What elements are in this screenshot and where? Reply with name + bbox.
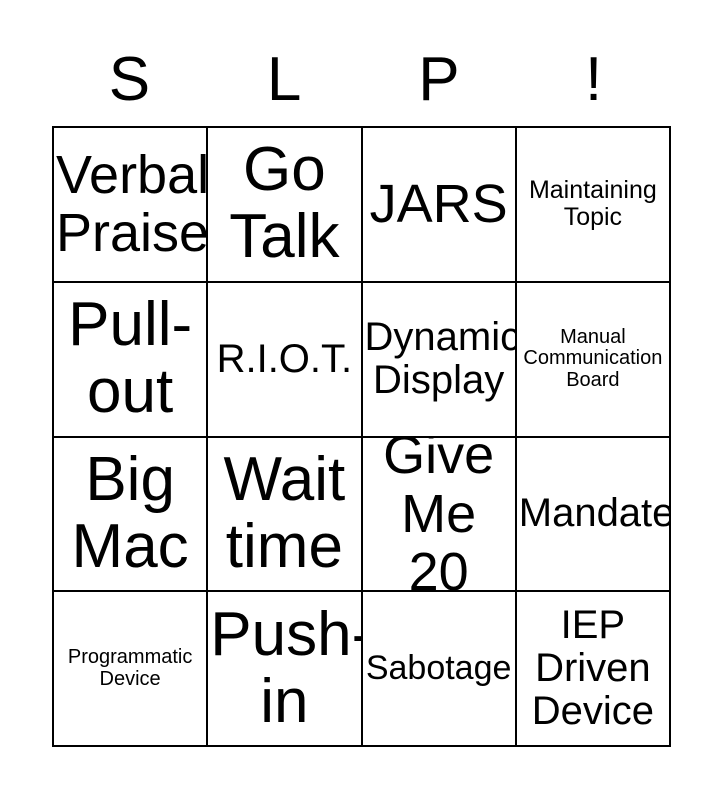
bingo-cell-label: Give Me 20 — [365, 438, 513, 593]
bingo-cell[interactable]: R.I.O.T. — [208, 283, 362, 438]
bingo-cell[interactable]: Maintaining Topic — [517, 128, 671, 283]
bingo-cell-label: IEP Driven Device — [519, 604, 667, 734]
header-letter-1: S — [52, 40, 207, 120]
bingo-cell-label: JARS — [365, 175, 513, 233]
bingo-cell-label: Maintaining Topic — [519, 177, 667, 231]
bingo-cell-label: Sabotage — [365, 650, 513, 687]
bingo-cell[interactable]: Go Talk — [208, 128, 362, 283]
bingo-cell-label: Go Talk — [210, 137, 358, 271]
bingo-cell[interactable]: IEP Driven Device — [517, 592, 671, 747]
bingo-cell[interactable]: Push- in — [208, 592, 362, 747]
bingo-cell[interactable]: Programmatic Device — [54, 592, 208, 747]
bingo-header-row: S L P ! — [52, 40, 671, 120]
header-letter-2: L — [207, 40, 362, 120]
bingo-cell-label: Wait time — [210, 447, 358, 581]
bingo-grid: Verbal Praise Go Talk JARS Maintaining T… — [52, 126, 671, 747]
header-letter-3: P — [362, 40, 517, 120]
bingo-cell[interactable]: Sabotage — [363, 592, 517, 747]
bingo-cell[interactable]: Manual Communication Board — [517, 283, 671, 438]
bingo-card: S L P ! Verbal Praise Go Talk JARS Maint… — [0, 0, 723, 800]
bingo-cell-label: Big Mac — [56, 447, 204, 581]
bingo-cell-label: Manual Communication Board — [519, 327, 667, 392]
bingo-cell[interactable]: Give Me 20 — [363, 438, 517, 593]
bingo-cell[interactable]: Mandate — [517, 438, 671, 593]
bingo-cell[interactable]: Big Mac — [54, 438, 208, 593]
bingo-cell[interactable]: Wait time — [208, 438, 362, 593]
header-letter-4: ! — [516, 40, 671, 120]
bingo-cell-label: Verbal Praise — [56, 146, 204, 263]
bingo-cell[interactable]: Dynamic Display — [363, 283, 517, 438]
bingo-cell[interactable]: Pull- out — [54, 283, 208, 438]
bingo-cell-label: Push- in — [210, 602, 358, 736]
bingo-cell-label: Programmatic Device — [56, 647, 204, 690]
bingo-cell-label: Mandate — [519, 492, 667, 535]
bingo-cell-label: Dynamic Display — [365, 316, 513, 402]
bingo-cell-label: R.I.O.T. — [210, 338, 358, 381]
bingo-cell[interactable]: Verbal Praise — [54, 128, 208, 283]
bingo-cell-label: Pull- out — [56, 292, 204, 426]
bingo-cell[interactable]: JARS — [363, 128, 517, 283]
